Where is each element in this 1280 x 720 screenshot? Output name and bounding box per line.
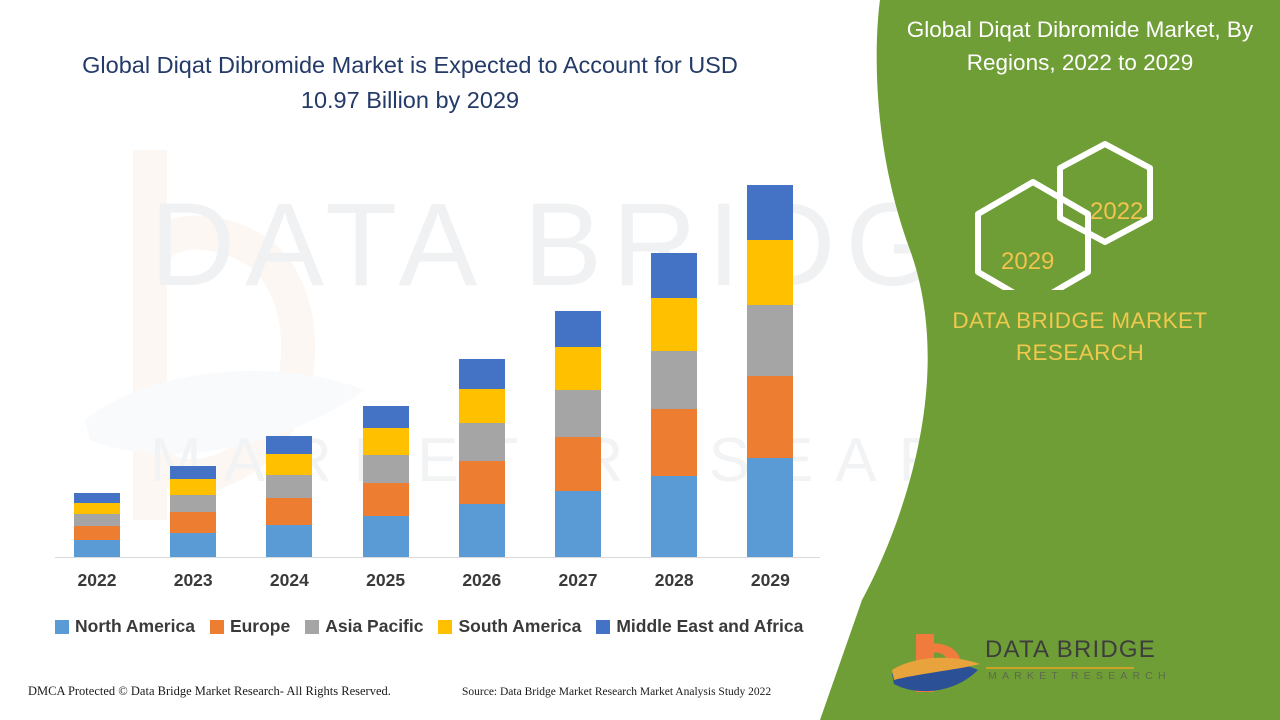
hexagon-label-2022: 2022 bbox=[1090, 198, 1143, 226]
chart-x-label: 2025 bbox=[341, 570, 431, 591]
chart-x-axis-labels: 20222023202420252026202720282029 bbox=[0, 570, 840, 598]
chart-bar-segment bbox=[747, 305, 793, 376]
legend-swatch bbox=[55, 620, 69, 634]
chart-bar-segment bbox=[266, 525, 312, 557]
legend-item[interactable]: North America bbox=[55, 616, 195, 637]
legend-label: Europe bbox=[230, 616, 290, 637]
legend-label: North America bbox=[75, 616, 195, 637]
chart-bar-segment bbox=[459, 461, 505, 505]
chart-bar-segment bbox=[363, 428, 409, 454]
panel-content: Global Diqat Dibromide Market, By Region… bbox=[880, 0, 1280, 720]
legend-item[interactable]: South America bbox=[438, 616, 581, 637]
legend-swatch bbox=[210, 620, 224, 634]
chart-bar-segment bbox=[555, 390, 601, 437]
chart-bar-segment bbox=[747, 458, 793, 557]
hexagon-2022-outline bbox=[1060, 144, 1150, 242]
chart-x-label: 2028 bbox=[629, 570, 719, 591]
chart-bar-segment bbox=[74, 493, 120, 502]
legend-swatch bbox=[305, 620, 319, 634]
chart-bar-segment bbox=[555, 347, 601, 390]
chart-bar-segment bbox=[459, 423, 505, 461]
legend-item[interactable]: Europe bbox=[210, 616, 290, 637]
chart-bar bbox=[459, 359, 505, 557]
chart-bar-segment bbox=[170, 512, 216, 532]
chart-bar-segment bbox=[363, 406, 409, 428]
data-bridge-logo: DATA BRIDGE MARKET RESEARCH bbox=[890, 630, 1270, 710]
legend-swatch bbox=[438, 620, 452, 634]
chart-bar-segment bbox=[170, 479, 216, 495]
chart-bar-segment bbox=[459, 504, 505, 557]
chart-bar bbox=[363, 406, 409, 557]
chart-bar bbox=[170, 466, 216, 557]
chart-x-label: 2027 bbox=[533, 570, 623, 591]
chart-x-label: 2029 bbox=[725, 570, 815, 591]
logo-subtitle: MARKET RESEARCH bbox=[988, 670, 1171, 682]
hexagon-label-2029: 2029 bbox=[1001, 248, 1054, 276]
logo-title: DATA BRIDGE bbox=[985, 636, 1156, 664]
regions-stacked-bar-chart: 20222023202420252026202720282029 bbox=[0, 0, 840, 600]
chart-bar-segment bbox=[363, 516, 409, 556]
chart-bar-segment bbox=[266, 475, 312, 498]
chart-bar bbox=[747, 185, 793, 557]
chart-bar-segment bbox=[747, 240, 793, 305]
chart-x-label: 2026 bbox=[437, 570, 527, 591]
legend-label: Asia Pacific bbox=[325, 616, 423, 637]
chart-bar-segment bbox=[459, 359, 505, 388]
source-notice: Source: Data Bridge Market Research Mark… bbox=[462, 686, 771, 698]
chart-bar bbox=[555, 311, 601, 557]
hexagon-badges: 2022 2029 bbox=[965, 130, 1195, 290]
chart-bar-segment bbox=[266, 436, 312, 454]
brand-name: DATA BRIDGE MARKET RESEARCH bbox=[900, 305, 1260, 368]
chart-x-axis-line bbox=[55, 557, 820, 558]
chart-bar-segment bbox=[459, 389, 505, 423]
legend-label: South America bbox=[458, 616, 581, 637]
chart-bar-segment bbox=[266, 454, 312, 475]
chart-x-label: 2023 bbox=[148, 570, 238, 591]
chart-bar-segment bbox=[74, 503, 120, 514]
panel-title: Global Diqat Dibromide Market, By Region… bbox=[890, 14, 1270, 79]
chart-bar-segment bbox=[74, 526, 120, 540]
chart-bar bbox=[266, 436, 312, 557]
chart-bar-segment bbox=[651, 476, 697, 557]
legend-item[interactable]: Asia Pacific bbox=[305, 616, 423, 637]
chart-bar-segment bbox=[651, 253, 697, 298]
chart-x-label: 2022 bbox=[52, 570, 142, 591]
infographic-canvas: DATA BRIDGE MARKET RESEARCH Global Diqat… bbox=[0, 0, 1280, 720]
chart-bar-segment bbox=[170, 495, 216, 512]
chart-bar-segment bbox=[170, 466, 216, 479]
chart-bar-segment bbox=[363, 483, 409, 516]
legend-swatch bbox=[596, 620, 610, 634]
copyright-notice: DMCA Protected © Data Bridge Market Rese… bbox=[28, 684, 391, 699]
chart-bar-segment bbox=[363, 455, 409, 484]
chart-plot-area bbox=[0, 0, 840, 557]
chart-bar bbox=[74, 493, 120, 557]
chart-bar-segment bbox=[555, 311, 601, 347]
chart-bar bbox=[651, 253, 697, 557]
chart-bar-segment bbox=[266, 498, 312, 525]
chart-bar-segment bbox=[74, 540, 120, 557]
hexagon-shapes bbox=[965, 130, 1195, 290]
chart-x-label: 2024 bbox=[244, 570, 334, 591]
chart-bar-segment bbox=[555, 437, 601, 491]
chart-bar-segment bbox=[747, 376, 793, 458]
chart-bar-segment bbox=[170, 533, 216, 557]
chart-bar-segment bbox=[651, 298, 697, 351]
chart-bar-segment bbox=[651, 409, 697, 476]
chart-bar-segment bbox=[555, 491, 601, 557]
legend-label: Middle East and Africa bbox=[616, 616, 803, 637]
logo-divider bbox=[986, 667, 1134, 669]
logo-mark-icon bbox=[890, 630, 985, 702]
chart-bar-segment bbox=[74, 514, 120, 526]
chart-legend: North AmericaEuropeAsia PacificSouth Ame… bbox=[55, 616, 830, 637]
chart-bar-segment bbox=[651, 351, 697, 409]
legend-item[interactable]: Middle East and Africa bbox=[596, 616, 803, 637]
chart-bar-segment bbox=[747, 185, 793, 240]
